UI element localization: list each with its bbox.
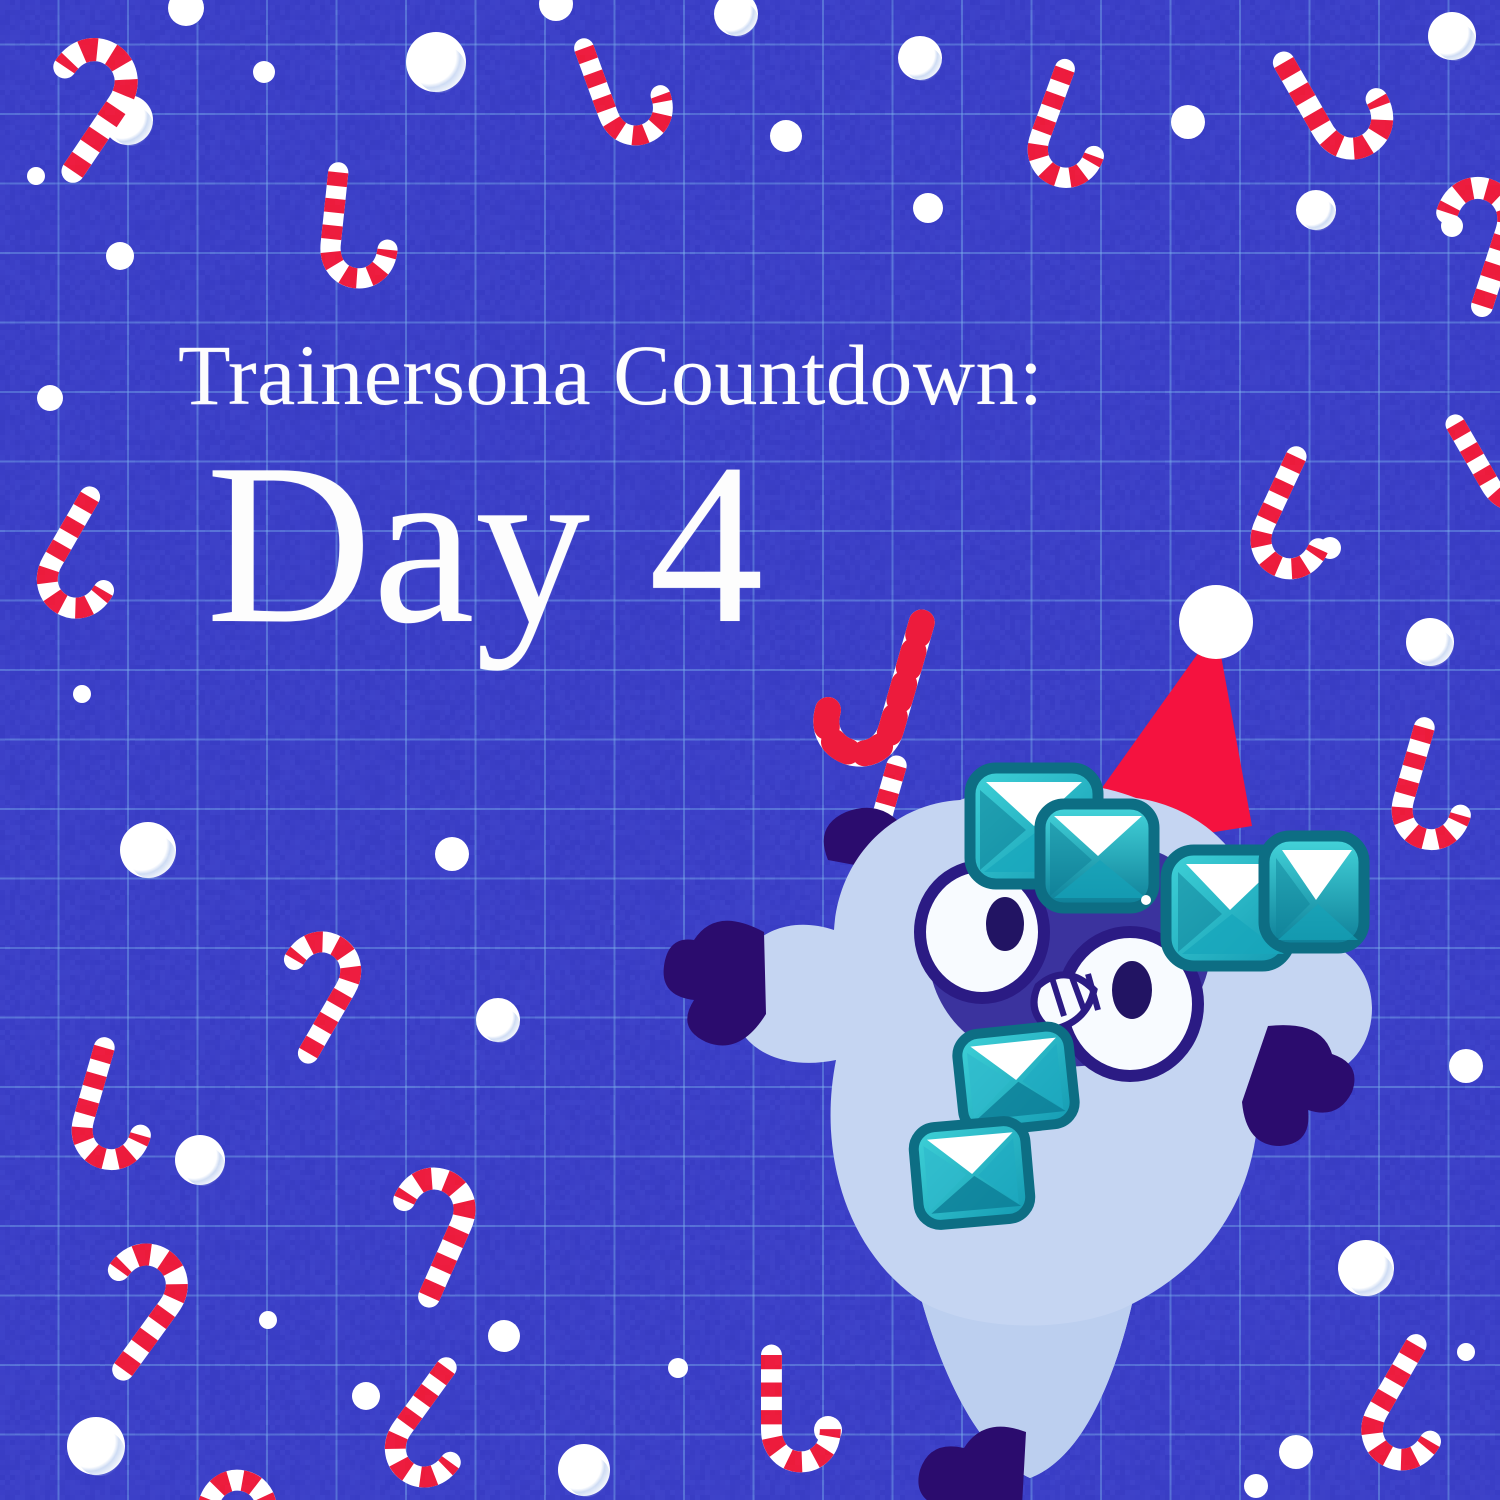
headline-block: Trainersona Countdown: Day 4 [178, 332, 1043, 663]
ice-crystal-horn-right [1166, 836, 1364, 966]
snowball-icon [558, 1444, 610, 1496]
snowball-icon [1171, 105, 1205, 139]
snowball-icon [898, 36, 942, 80]
ice-crystal-body-gem-upper [955, 1024, 1077, 1133]
snowball-icon [770, 120, 802, 152]
snowball-icon [37, 385, 63, 411]
headline-line-2: Day 4 [206, 426, 1043, 663]
snowball-icon [67, 1417, 125, 1475]
snowball-icon [175, 1135, 225, 1185]
snowball-icon [406, 32, 466, 92]
headline-line-1: Trainersona Countdown: [178, 332, 1043, 418]
snowball-icon [476, 998, 520, 1042]
ice-crystal-body-gem-lower [912, 1119, 1032, 1226]
snowball-icon [73, 685, 91, 703]
snowball-icon [1449, 1049, 1483, 1083]
candy-cane-icon [282, 140, 437, 319]
snowball-icon [913, 193, 943, 223]
snowball-icon [714, 0, 758, 36]
snowball-icon [488, 1320, 520, 1352]
countdown-graphic: Trainersona Countdown: Day 4 [0, 0, 1500, 1500]
snowball-icon [253, 61, 275, 83]
mascot-illustration [660, 560, 1420, 1500]
snowball-icon [435, 837, 469, 871]
snowball-icon [259, 1311, 277, 1329]
snowball-icon [106, 242, 134, 270]
snowball-icon [120, 822, 176, 878]
snowball-icon [1428, 12, 1476, 60]
